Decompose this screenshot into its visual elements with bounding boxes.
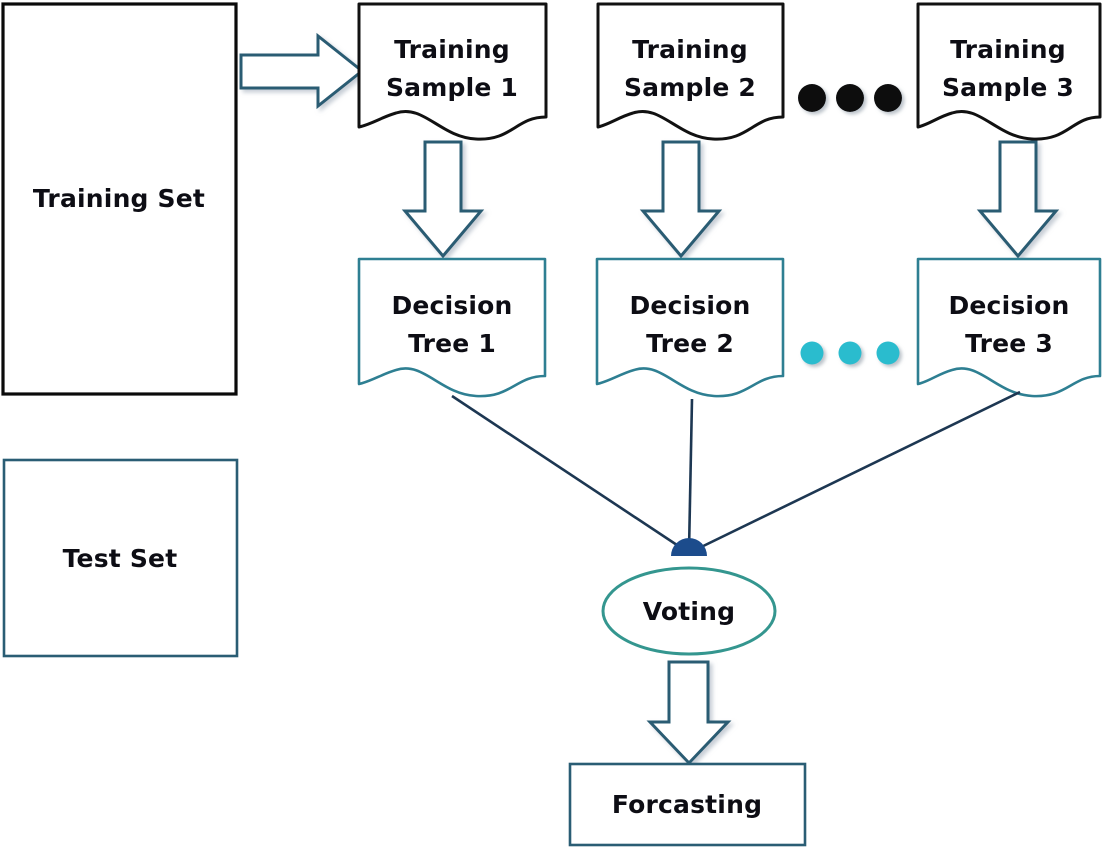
decision-tree-1-node[interactable]: Decision Tree 1 (359, 259, 545, 396)
ellipsis-dot-icon (839, 342, 862, 365)
decision-tree-1-shape (359, 259, 545, 396)
training-sample-2-node[interactable]: Training Sample 2 (598, 4, 783, 139)
ellipsis-dot-icon (874, 84, 902, 112)
ellipsis-dot-icon (801, 342, 824, 365)
training-sample-2-shape (598, 4, 783, 139)
training-sample-1-label-line2: Sample 1 (386, 73, 518, 102)
ellipsis-dot-icon (877, 342, 900, 365)
samples-ellipsis (798, 84, 902, 112)
decision-tree-2-shape (597, 259, 783, 396)
voting-node[interactable]: Voting (603, 568, 775, 654)
training-sample-3-shape (918, 4, 1100, 139)
block-arrow-right-icon (241, 36, 362, 106)
connector-tree1-to-voting (452, 396, 686, 551)
decision-tree-1-label-line1: Decision (391, 291, 512, 320)
trees-ellipsis (801, 342, 900, 365)
decision-tree-3-label-line2: Tree 3 (965, 329, 1053, 358)
voting-label: Voting (643, 597, 736, 626)
block-arrow-down-icon (650, 662, 728, 763)
training-sample-1-label-line1: Training (394, 35, 510, 64)
training-sample-2-label-line2: Sample 2 (624, 73, 756, 102)
arrow-sample-1-to-tree-1 (405, 142, 481, 256)
connector-tree2-to-voting (689, 399, 692, 551)
arrow-training-set-to-sample-1 (241, 36, 362, 106)
training-sample-2-label-line1: Training (632, 35, 748, 64)
training-sample-3-label-line1: Training (950, 35, 1066, 64)
block-arrow-down-icon (405, 142, 481, 256)
forecasting-label: Forcasting (612, 790, 762, 819)
decision-tree-2-label-line1: Decision (629, 291, 750, 320)
decision-tree-2-label-line2: Tree 2 (646, 329, 734, 358)
decision-tree-2-node[interactable]: Decision Tree 2 (597, 259, 783, 396)
random-forest-flowchart: Training Set Test Set Training Sample 1 … (0, 0, 1105, 849)
decision-tree-3-shape (918, 259, 1100, 396)
arrow-voting-to-forecasting (650, 662, 728, 763)
decision-tree-3-node[interactable]: Decision Tree 3 (918, 259, 1100, 396)
training-set-node[interactable]: Training Set (3, 4, 236, 394)
ellipsis-dot-icon (836, 84, 864, 112)
arrow-sample-2-to-tree-2 (643, 142, 719, 256)
training-set-label: Training Set (33, 184, 205, 213)
training-sample-3-node[interactable]: Training Sample 3 (918, 4, 1100, 139)
training-sample-3-label-line2: Sample 3 (942, 73, 1074, 102)
test-set-label: Test Set (63, 544, 178, 573)
test-set-node[interactable]: Test Set (4, 460, 237, 656)
voting-junction-node (671, 538, 707, 556)
training-sample-1-shape (359, 4, 546, 139)
decision-tree-3-label-line1: Decision (948, 291, 1069, 320)
block-arrow-down-icon (980, 142, 1056, 256)
diagram-canvas: Training Set Test Set Training Sample 1 … (0, 0, 1105, 849)
connector-tree3-to-voting (693, 392, 1020, 551)
block-arrow-down-icon (643, 142, 719, 256)
training-sample-1-node[interactable]: Training Sample 1 (359, 4, 546, 139)
decision-tree-1-label-line2: Tree 1 (408, 329, 496, 358)
arrow-sample-3-to-tree-3 (980, 142, 1056, 256)
ellipsis-dot-icon (798, 84, 826, 112)
forecasting-node[interactable]: Forcasting (570, 764, 805, 845)
